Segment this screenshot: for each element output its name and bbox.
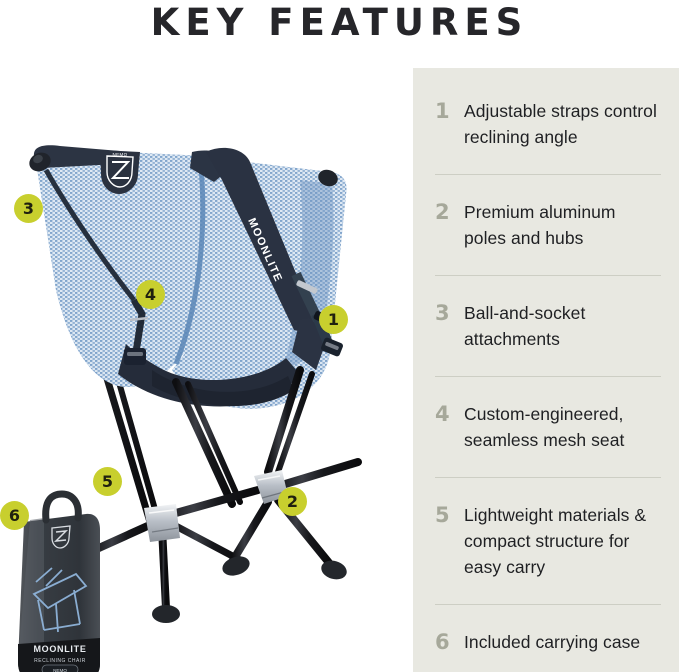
features-panel: 1 Adjustable straps control reclining an… xyxy=(413,68,679,672)
case-sub-label: RECLINING CHAIR xyxy=(34,658,86,664)
callout-badge-1[interactable]: 1 xyxy=(319,305,348,334)
carrying-case: MOONLITE RECLINING CHAIR NEMO xyxy=(18,494,100,672)
callout-badge-5[interactable]: 5 xyxy=(93,467,122,496)
feature-item-6: 6 Included carrying case xyxy=(435,629,661,655)
feature-text-6: Included carrying case xyxy=(464,629,640,655)
feature-text-3: Ball-and-socket attachments xyxy=(464,300,661,352)
callout-badge-2[interactable]: 2 xyxy=(278,487,307,516)
feature-number-2: 2 xyxy=(435,199,451,225)
infographic-page: KEY FEATURES xyxy=(0,0,679,672)
case-brand-label: MOONLITE xyxy=(33,644,86,654)
feature-item-4: 4 Custom-engineered, seamless mesh seat xyxy=(435,401,661,453)
feature-item-5: 5 Lightweight materials & compact struct… xyxy=(435,502,661,580)
case-badge-label: NEMO xyxy=(53,668,67,672)
feature-text-2: Premium aluminum poles and hubs xyxy=(464,199,661,251)
feature-number-3: 3 xyxy=(435,300,451,326)
feature-item-2: 2 Premium aluminum poles and hubs xyxy=(435,199,661,251)
callout-badge-4[interactable]: 4 xyxy=(136,280,165,309)
page-title: KEY FEATURES xyxy=(0,0,679,44)
callout-badge-3[interactable]: 3 xyxy=(14,194,43,223)
feature-number-1: 1 xyxy=(435,98,451,124)
aluminum-hub-lower xyxy=(144,504,180,542)
svg-text:NEMO: NEMO xyxy=(112,152,127,157)
chair-feet xyxy=(71,543,349,623)
feature-number-4: 4 xyxy=(435,401,451,427)
feature-text-1: Adjustable straps control reclining angl… xyxy=(464,98,661,150)
feature-number-5: 5 xyxy=(435,502,451,528)
feature-item-1: 1 Adjustable straps control reclining an… xyxy=(435,98,661,150)
feature-number-6: 6 xyxy=(435,629,451,655)
feature-text-4: Custom-engineered, seamless mesh seat xyxy=(464,401,661,453)
callout-badge-6[interactable]: 6 xyxy=(0,501,29,530)
camp-chair-illustration: MOONLITE NEMO xyxy=(0,52,413,672)
feature-text-5: Lightweight materials & compact structur… xyxy=(464,502,661,580)
product-image-area: MOONLITE NEMO xyxy=(0,52,413,672)
feature-item-3: 3 Ball-and-socket attachments xyxy=(435,300,661,352)
